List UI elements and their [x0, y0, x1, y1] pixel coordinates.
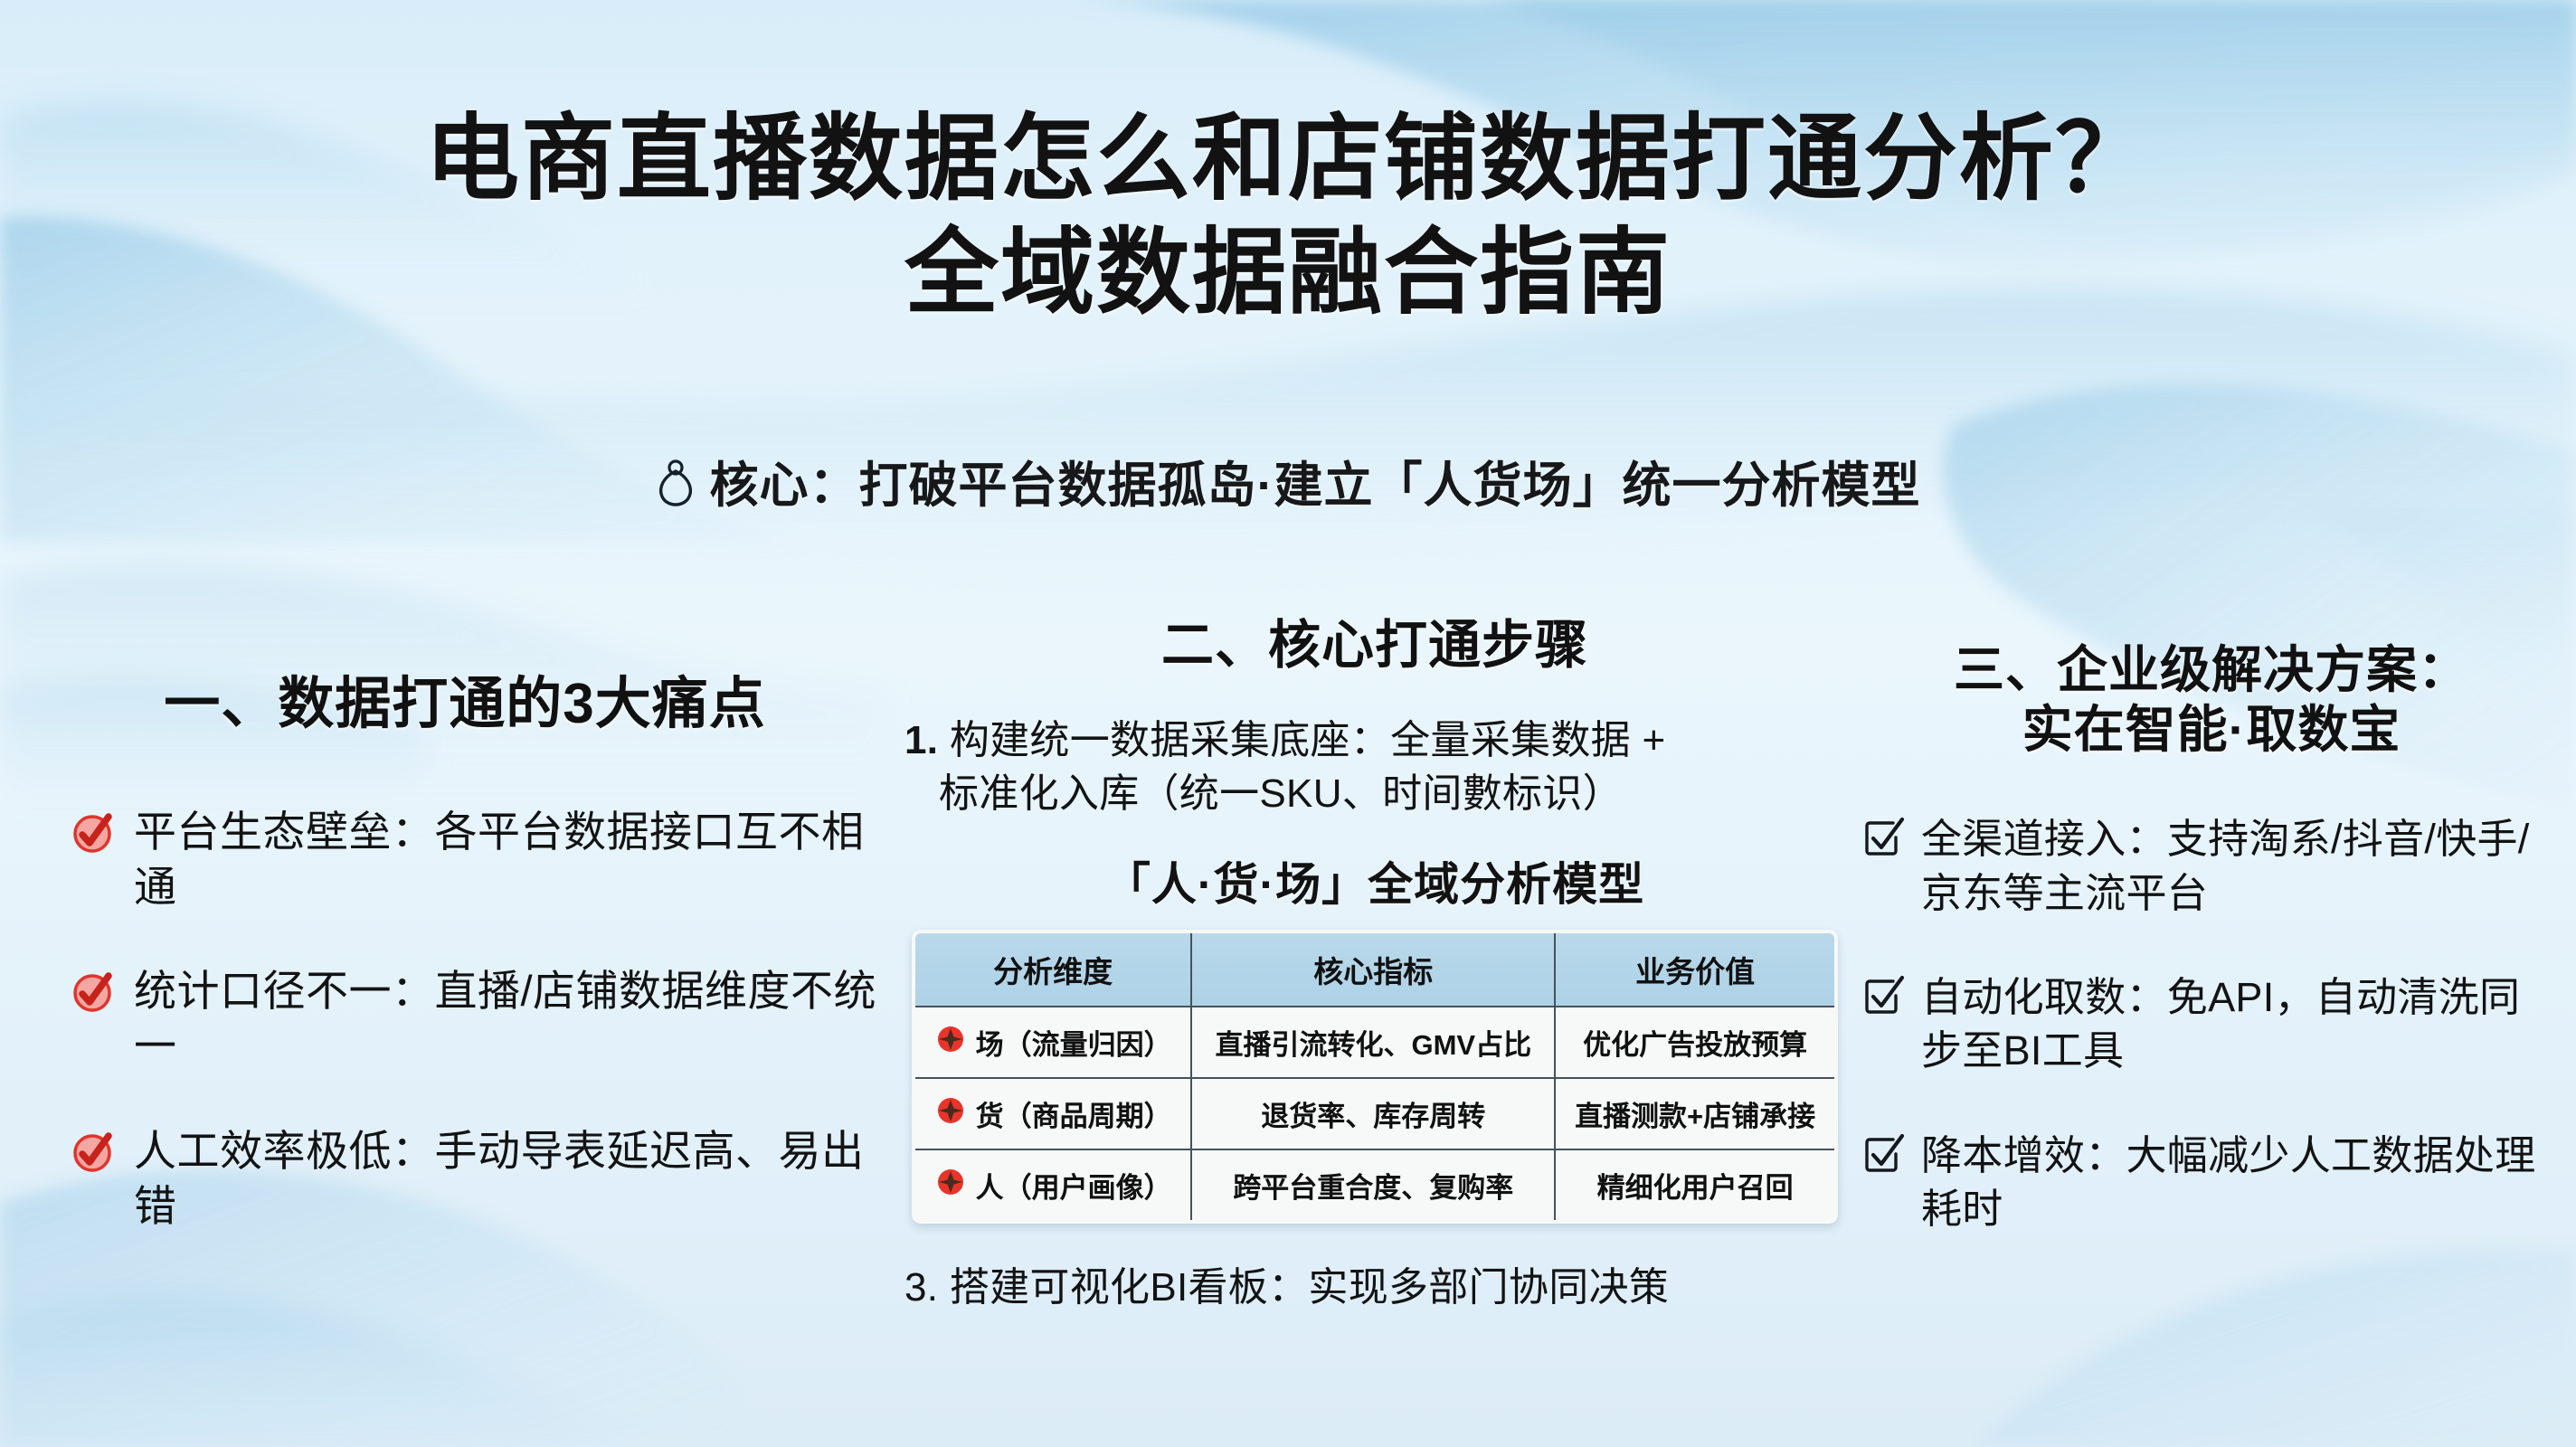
table-cell-dimension-label: 场（流量归因）: [976, 1022, 1172, 1063]
middle-column-heading: 二、核心打通步骤: [904, 615, 1845, 676]
table-row: 货（商品周期） 退货率、库存周转 直播测款+店铺承接: [914, 1078, 1836, 1149]
table-cell-metric: 跨平台重合度、复购率: [1191, 1149, 1555, 1222]
step-1-line-1: 构建统一数据采集底座：全量采集数据 +: [950, 718, 1666, 762]
step-3: 3. 搭建可视化BI看板：实现多部门协同决策: [904, 1262, 1845, 1315]
model-table: 分析维度 核心指标 业务价值: [912, 930, 1838, 1224]
model-table-wrapper: 分析维度 核心指标 业务价值: [904, 930, 1845, 1224]
table-cell-dimension: 场（流量归因）: [914, 1007, 1191, 1078]
title-line-1: 电商直播数据怎么和店铺数据打通分析？: [0, 109, 2576, 210]
left-bullet-list: 平台生态壁垒：各平台数据接口互不相通 统计口径不一：直播/店铺数据维度不统一: [31, 804, 890, 1234]
right-heading-line-1: 三、企业级解决方案：: [1863, 640, 2560, 700]
poster-title: 电商直播数据怎么和店铺数据打通分析？ 全域数据融合指南: [0, 109, 2576, 325]
table-cell-metric: 直播引流转化、GMV占比: [1191, 1007, 1555, 1078]
column-core-steps: 二、核心打通步骤 1. 构建统一数据采集底座：全量采集数据 + 标准化入库（统一…: [904, 615, 1845, 1315]
right-bullet-list: 全渠道接入：支持淘系/抖音/快手/京东等主流平台 自动化取数：免API，自动清洗…: [1863, 812, 2560, 1235]
list-item-label: 全渠道接入：支持淘系/抖音/快手/京东等主流平台: [1921, 812, 2560, 920]
column-solution: 三、企业级解决方案： 实在智能·取数宝 全渠道接入：支持淘系/抖音/快手/京东等…: [1863, 615, 2560, 1287]
red-check-circle-icon: [71, 1129, 116, 1174]
list-item: 自动化取数：免API，自动清洗同步至BI工具: [1863, 970, 2560, 1078]
step-1-number: 1.: [904, 718, 938, 762]
column-pain-points: 一、数据打通的3大痛点 平台生态壁垒：各平台数据接口互不相通: [31, 615, 890, 1282]
droplet-outline-icon: [656, 459, 696, 506]
list-item: 人工效率极低：手动导表延迟高、易出错: [31, 1123, 890, 1234]
step-1-line-2: 标准化入库（统一SKU、时间數标识）: [904, 768, 1845, 821]
list-item-label: 统计口径不一：直播/店铺数据维度不统一: [134, 963, 890, 1073]
table-cell-dimension: 货（商品周期）: [914, 1078, 1191, 1149]
left-column-heading: 一、数据打通的3大痛点: [31, 671, 890, 737]
red-check-circle-icon: [71, 809, 116, 855]
right-heading-line-2: 实在智能·取数宝: [1863, 700, 2560, 760]
red-star-badge-icon: [934, 1094, 967, 1134]
checkbox-check-icon: [1863, 976, 1905, 1017]
red-star-badge-icon: [934, 1166, 967, 1206]
right-column-heading: 三、企业级解决方案： 实在智能·取数宝: [1863, 640, 2560, 760]
infographic-poster: 电商直播数据怎么和店铺数据打通分析？ 全域数据融合指南 核心：打破平台数据孤岛·…: [0, 0, 2576, 1447]
step-1: 1. 构建统一数据采集底座：全量采集数据 + 标准化入库（统一SKU、时间數标识…: [904, 714, 1845, 821]
table-header-metric: 核心指标: [1191, 932, 1555, 1007]
red-check-circle-icon: [71, 969, 116, 1014]
model-title: 「人·货·场」全域分析模型: [904, 848, 1845, 913]
list-item-label: 降本增效：大幅减少人工数据处理耗时: [1921, 1129, 2560, 1236]
table-row: 人（用户画像） 跨平台重合度、复购率 精细化用户召回: [914, 1149, 1836, 1222]
table-cell-dimension-label: 人（用户画像）: [976, 1165, 1172, 1206]
subtitle-text: 核心：打破平台数据孤岛·建立「人货场」统一分析模型: [710, 445, 1921, 516]
table-cell-value: 优化广告投放预算: [1555, 1007, 1836, 1078]
table-cell-value: 直播测款+店铺承接: [1555, 1078, 1836, 1149]
list-item: 统计口径不一：直播/店铺数据维度不统一: [31, 963, 890, 1073]
list-item-label: 自动化取数：免API，自动清洗同步至BI工具: [1921, 970, 2560, 1078]
table-cell-metric: 退货率、库存周转: [1191, 1078, 1555, 1149]
table-header-dimension: 分析维度: [914, 932, 1191, 1007]
title-line-2: 全域数据融合指南: [0, 222, 2576, 324]
checkbox-check-icon: [1863, 1134, 1905, 1176]
red-star-badge-icon: [934, 1023, 967, 1063]
table-row: 场（流量归因） 直播引流转化、GMV占比 优化广告投放预算: [914, 1007, 1836, 1078]
table-cell-dimension: 人（用户画像）: [914, 1149, 1191, 1222]
checkbox-check-icon: [1863, 818, 1905, 859]
list-item: 降本增效：大幅减少人工数据处理耗时: [1863, 1129, 2560, 1236]
list-item: 平台生态壁垒：各平台数据接口互不相通: [31, 804, 890, 914]
table-cell-value: 精细化用户召回: [1555, 1149, 1836, 1222]
table-header-row: 分析维度 核心指标 业务价值: [914, 932, 1836, 1007]
list-item-label: 平台生态壁垒：各平台数据接口互不相通: [134, 804, 890, 914]
list-item: 全渠道接入：支持淘系/抖音/快手/京东等主流平台: [1863, 812, 2560, 920]
table-cell-dimension-label: 货（商品周期）: [976, 1093, 1172, 1134]
list-item-label: 人工效率极低：手动导表延迟高、易出错: [134, 1123, 890, 1234]
poster-subtitle: 核心：打破平台数据孤岛·建立「人货场」统一分析模型: [0, 445, 2576, 516]
table-header-value: 业务价值: [1555, 932, 1836, 1007]
